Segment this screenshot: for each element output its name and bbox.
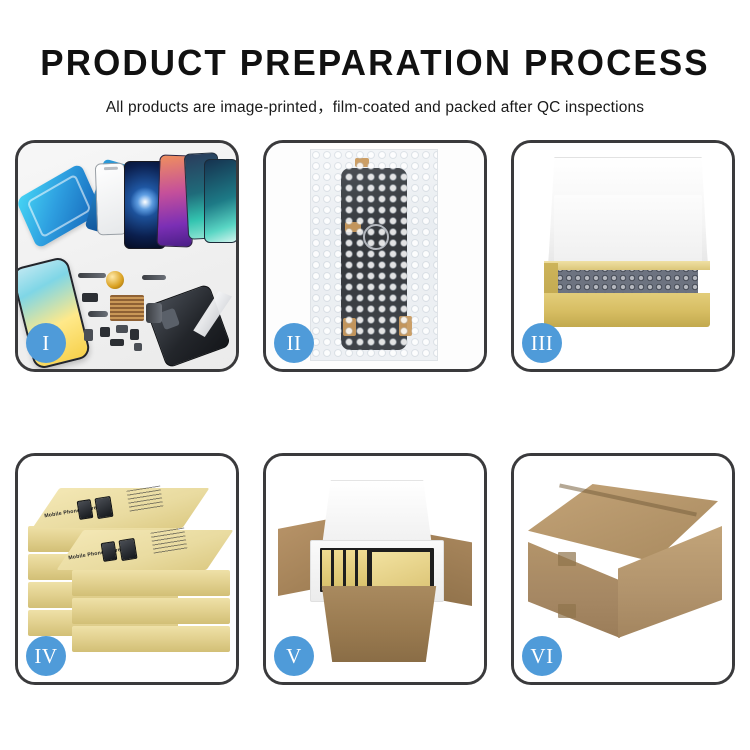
yellow-box-edge-graphic: [322, 550, 331, 590]
flex-cable-graphic: [78, 273, 106, 278]
step-badge-1: I: [26, 323, 66, 363]
stacked-box-graphic: [72, 626, 230, 652]
stacked-box-graphic: [72, 598, 230, 624]
yellow-box-edge-graphic: [346, 550, 355, 590]
step-badge-6: VI: [522, 636, 562, 676]
wrapped-screen-assembly-graphic: [341, 168, 407, 350]
small-part-e-graphic: [130, 329, 139, 340]
step-panel-3: III: [511, 140, 735, 372]
small-part-d-graphic: [116, 325, 128, 333]
yellow-box-edge-graphic: [358, 550, 367, 590]
flex-cable-2-graphic: [142, 275, 166, 280]
page-title: PRODUCT PREPARATION PROCESS: [11, 45, 739, 81]
box-phone-image-graphic: [94, 496, 113, 519]
product-preparation-infographic: PRODUCT PREPARATION PROCESS All products…: [0, 0, 750, 750]
foam-box-contents-graphic: [320, 548, 434, 592]
phone-display-teal2-graphic: [204, 159, 236, 243]
step-panel-1: I: [15, 140, 239, 372]
yellow-box-front-graphic: [544, 293, 710, 327]
foam-box-lid-graphic: [322, 480, 432, 546]
step-panel-6: VI: [511, 453, 735, 685]
bubble-wrap-bag-graphic: [310, 149, 438, 361]
carton-tape-top-graphic: [558, 552, 576, 566]
speaker-component-graphic: [106, 271, 124, 289]
flex-cable-3-graphic: [88, 311, 108, 317]
adhesive-sticker-graphic: [18, 163, 102, 250]
step-badge-3: III: [522, 323, 562, 363]
second-box-lid-graphic: [57, 530, 234, 570]
step-badge-5: V: [274, 636, 314, 676]
logic-board-graphic: [110, 295, 144, 321]
flex-cable-4-graphic: [146, 303, 162, 323]
carton-tape-bottom-graphic: [558, 604, 576, 618]
tape-piece-1-graphic: [355, 158, 369, 167]
box-phone-image-graphic: [118, 538, 137, 561]
step-badge-2: II: [274, 323, 314, 363]
carton-body-graphic: [314, 586, 444, 662]
box-phone-image-graphic: [77, 499, 94, 520]
small-part-a-graphic: [82, 293, 98, 302]
stacked-box-graphic: [72, 570, 230, 596]
box-rim-graphic: [544, 261, 710, 270]
small-part-c-graphic: [100, 327, 110, 337]
step-panel-4: Mobile Phone Spare Parts Mobile Phone Sp…: [15, 453, 239, 685]
small-part-g-graphic: [134, 343, 142, 351]
yellow-box-edge-graphic: [334, 550, 343, 590]
process-steps-grid: I II: [15, 140, 735, 685]
top-box-lid-graphic: [33, 488, 210, 528]
step-panel-2: II: [263, 140, 487, 372]
foam-sheet-graphic: [554, 195, 702, 267]
step-panel-5: V: [263, 453, 487, 685]
step-badge-4: IV: [26, 636, 66, 676]
page-subtitle: All products are image-printed，film-coat…: [0, 95, 750, 117]
tape-piece-3-graphic: [343, 318, 356, 336]
header: PRODUCT PREPARATION PROCESS All products…: [0, 0, 750, 117]
small-part-f-graphic: [110, 339, 124, 346]
tape-piece-4-graphic: [399, 316, 412, 336]
box-phone-image-graphic: [101, 541, 118, 562]
small-part-b-graphic: [84, 329, 93, 341]
screen-protector-film-graphic: [95, 162, 127, 235]
yellow-boxes-flat-graphic: [372, 552, 430, 588]
tape-piece-2-graphic: [345, 222, 361, 232]
